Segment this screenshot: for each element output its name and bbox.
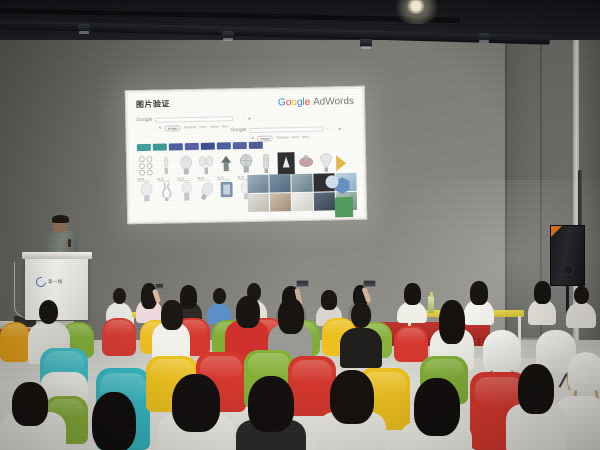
image-result-6[interactable] <box>248 194 269 212</box>
chair-red-4[interactable] <box>394 326 428 362</box>
hair <box>161 300 183 330</box>
presentation-slide: 图片验证 Google AdWords Google ⌕ ⋮⋮ ◉ All Im… <box>128 89 364 221</box>
search-input-1 <box>155 116 233 122</box>
head <box>39 300 58 324</box>
product-13[interactable] <box>177 180 195 202</box>
image-result-3[interactable] <box>291 174 312 192</box>
lectern-top <box>22 252 92 259</box>
tab-news-1[interactable]: News <box>199 125 207 131</box>
track-light-4 <box>478 33 490 41</box>
hair <box>534 281 551 304</box>
hair <box>404 283 421 305</box>
google-search-bar-2[interactable]: Google ⌕ ⋮⋮ ◉ <box>230 125 358 133</box>
swatch-8[interactable] <box>249 142 263 149</box>
head <box>574 286 589 304</box>
product-3[interactable]: $1.18 Alibaba.com <box>177 154 196 182</box>
search-input-2 <box>250 126 324 132</box>
tab-news-2[interactable]: News <box>292 135 300 141</box>
google-adwords-logo: Google AdWords <box>278 96 354 108</box>
audience-member-front-2 <box>84 392 150 450</box>
hair <box>278 298 304 334</box>
search-icons-1: ⌕ ⋮⋮ ◉ <box>236 115 252 120</box>
torso <box>566 302 596 328</box>
hair <box>236 296 260 328</box>
color-filter-swatches[interactable] <box>137 142 263 151</box>
image-result-8[interactable] <box>292 193 313 211</box>
google-search-bar-1[interactable]: Google ⌕ ⋮⋮ ◉ <box>136 115 266 123</box>
swatch-2[interactable] <box>153 144 167 151</box>
triangle-yellow-icon <box>336 155 346 171</box>
pa-speaker-accent <box>551 226 562 237</box>
head <box>113 288 126 304</box>
projection-screen: 图片验证 Google AdWords Google ⌕ ⋮⋮ ◉ All Im… <box>125 86 368 225</box>
ceiling <box>0 0 600 40</box>
product-4[interactable]: $0.86 Alibaba.com <box>197 154 216 182</box>
tab-more-1[interactable]: More <box>222 124 229 130</box>
tab-all-1[interactable]: All <box>158 126 161 132</box>
hair <box>12 382 48 426</box>
torso <box>340 328 382 368</box>
track-light-2 <box>222 31 234 39</box>
hair <box>414 378 460 436</box>
tab-images-1[interactable]: Images <box>165 125 181 131</box>
audience-member-back-11 <box>528 281 556 323</box>
swatch-3[interactable] <box>169 143 183 150</box>
swatch-1[interactable] <box>137 144 151 151</box>
audience-member-back-9 <box>397 283 427 321</box>
swatch-6[interactable] <box>217 142 231 149</box>
hair <box>439 300 465 344</box>
eames-chair-seat <box>568 352 600 392</box>
product-5[interactable]: $1.55 Alibaba.com <box>217 153 236 181</box>
pa-speaker <box>550 225 585 286</box>
tab-shopping-1[interactable]: Shopping <box>184 125 197 131</box>
swatch-4[interactable] <box>185 143 199 150</box>
image-result-7[interactable] <box>270 193 291 211</box>
audience-member-front-7 <box>506 364 566 450</box>
head <box>351 302 371 328</box>
phone[interactable] <box>155 283 164 289</box>
hair <box>172 374 220 432</box>
tab-videos-1[interactable]: Videos <box>210 125 219 131</box>
tab-shopping-2[interactable]: Shopping <box>276 135 289 141</box>
audience-member-front-4 <box>236 376 306 450</box>
adwords-label: AdWords <box>313 96 354 108</box>
product-11[interactable] <box>137 181 155 203</box>
audience-member-front-6 <box>400 378 472 450</box>
presenter-hair <box>52 215 69 223</box>
product-results-row-2[interactable] <box>137 179 255 203</box>
image-result-9[interactable] <box>314 192 335 210</box>
slide-title: 图片验证 <box>136 98 170 110</box>
pa-speaker-cone-icon <box>563 264 574 275</box>
audience-member-mid-2 <box>152 300 190 358</box>
phone[interactable] <box>363 280 376 287</box>
product-1[interactable]: $0.98 Alibaba.com <box>137 155 156 183</box>
hair <box>92 392 136 450</box>
ceiling-beam-upper <box>0 8 460 23</box>
phone[interactable] <box>296 280 309 287</box>
google-logo-small-2: Google <box>230 127 246 133</box>
product-2[interactable]: $1.25 Alibaba.com <box>157 154 176 182</box>
hair <box>248 376 294 432</box>
track-light-3 <box>360 39 372 47</box>
image-result-2[interactable] <box>269 174 290 192</box>
swatch-7[interactable] <box>233 142 247 149</box>
product-15[interactable] <box>217 179 235 201</box>
product-12[interactable] <box>157 180 175 202</box>
audience-member-front-3 <box>158 374 234 450</box>
swirl-icon <box>34 275 48 289</box>
lectern-logo: 第一线 <box>36 277 62 287</box>
chair-orange-1[interactable] <box>0 322 30 362</box>
image-result-1[interactable] <box>247 175 268 193</box>
audience-member-front-1 <box>0 382 66 450</box>
hair <box>330 370 374 424</box>
audience-member-back-1 <box>106 288 132 320</box>
tab-more-2[interactable]: More <box>302 135 309 141</box>
hair <box>518 364 554 414</box>
hair <box>321 290 337 310</box>
rect-green-icon <box>335 197 353 219</box>
swatch-5[interactable] <box>201 143 215 150</box>
audience-member-front-5 <box>318 370 386 450</box>
audience-member-mid-5 <box>340 302 382 364</box>
google-logo-small-1: Google <box>136 117 152 123</box>
lectern-logo-text: 第一线 <box>48 279 62 285</box>
chair-red-1[interactable] <box>102 318 136 356</box>
google-wordmark: Google <box>278 97 310 109</box>
screen-frame: 图片验证 Google AdWords Google ⌕ ⋮⋮ ◉ All Im… <box>125 86 368 225</box>
search-icons-2: ⌕ ⋮⋮ ◉ <box>327 126 343 131</box>
track-light-1 <box>78 24 90 32</box>
google-tabs-1[interactable]: All Images Shopping News Videos More <box>158 124 228 131</box>
audience-member-back-12 <box>566 286 596 326</box>
product-14[interactable] <box>197 180 215 202</box>
microphone-icon <box>68 239 71 247</box>
conference-room-scene: 图片验证 Google AdWords Google ⌕ ⋮⋮ ◉ All Im… <box>0 0 600 450</box>
